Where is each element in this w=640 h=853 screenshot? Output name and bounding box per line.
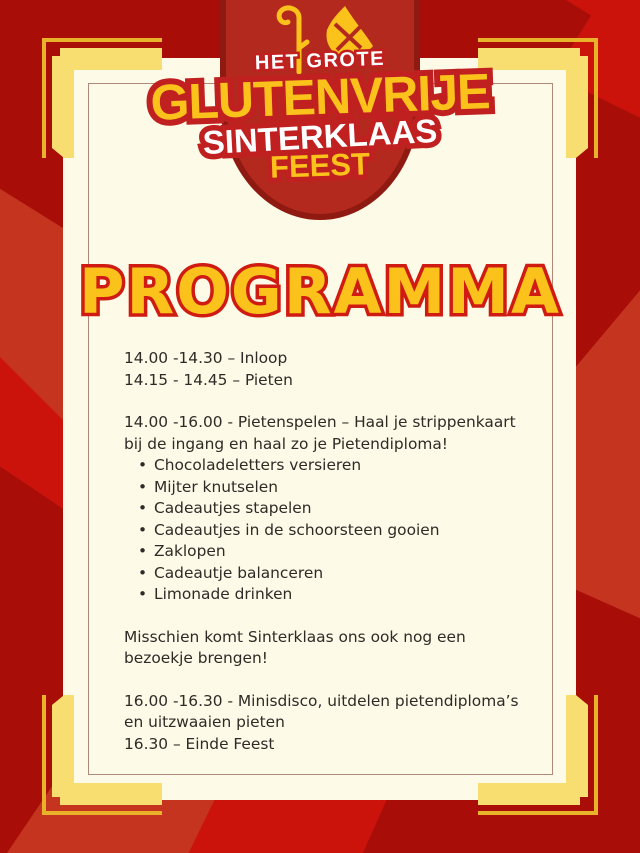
corner-thin-line-horizontal	[478, 811, 598, 815]
corner-thick-bar-horizontal	[478, 783, 580, 805]
corner-thin-line-vertical	[594, 695, 598, 815]
spacer	[124, 606, 544, 627]
list-item: Cadeautjes in de schoorsteen gooien	[154, 520, 544, 542]
schedule-line: 14.00 -14.30 – Inloop	[124, 348, 544, 370]
corner-thin-line-vertical	[42, 695, 46, 815]
list-item: Limonade drinken	[154, 584, 544, 606]
schedule-line: 14.15 - 14.45 – Pieten	[124, 370, 544, 392]
schedule-line: 16.00 -16.30 - Minisdisco, uitdelen piet…	[124, 691, 544, 713]
schedule-line: 16.30 – Einde Feest	[124, 734, 544, 756]
games-list: Chocoladeletters versieren Mijter knutse…	[124, 455, 544, 606]
corner-thin-line-horizontal	[42, 811, 162, 815]
event-logo: HET GROTE GLUTENVRIJE SINTERKLAAS FEEST	[0, 0, 640, 200]
note-line: bezoekje brengen!	[124, 648, 544, 670]
spacer	[124, 391, 544, 412]
list-item: Chocoladeletters versieren	[154, 455, 544, 477]
poster-root: HET GROTE GLUTENVRIJE SINTERKLAAS FEEST …	[0, 0, 640, 853]
corner-thick-bar-horizontal	[60, 783, 162, 805]
schedule-line: en uitzwaaien pieten	[124, 712, 544, 734]
list-item: Mijter knutselen	[154, 477, 544, 499]
note-line: Misschien komt Sinterklaas ons ook nog e…	[124, 627, 544, 649]
list-item: Cadeautje balanceren	[154, 563, 544, 585]
page-title: PROGRAMMA	[0, 255, 640, 328]
games-intro-line: bij de ingang en haal zo je Pietendiplom…	[124, 434, 544, 456]
list-item: Cadeautjes stapelen	[154, 498, 544, 520]
games-intro-line: 14.00 -16.00 - Pietenspelen – Haal je st…	[124, 412, 544, 434]
spacer	[124, 670, 544, 691]
corner-thick-bar-vertical	[52, 695, 74, 797]
logo-line-3: FEEST	[269, 146, 370, 185]
programme-content: 14.00 -14.30 – Inloop 14.15 - 14.45 – Pi…	[124, 348, 544, 755]
list-item: Zaklopen	[154, 541, 544, 563]
corner-thick-bar-vertical	[566, 695, 588, 797]
